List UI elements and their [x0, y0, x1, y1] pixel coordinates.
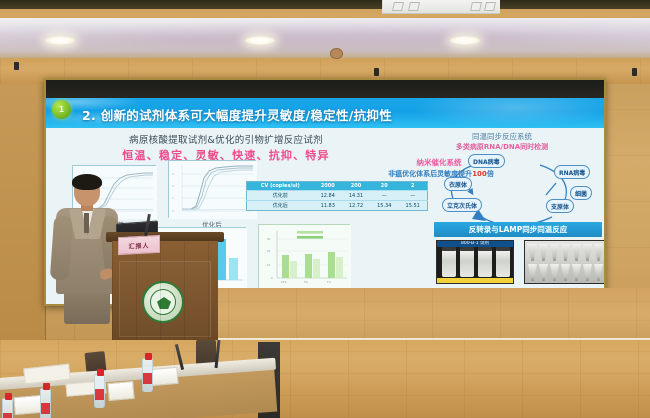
presentation-photo-scene: 1 2. 创新的试剂体系可大幅度提升灵敏度/稳定性/抗抑性 病原核酸提取试剂&优… — [0, 0, 650, 418]
photo-yellow-bar — [437, 278, 513, 283]
table-corner-label: CV (copies/ul) — [247, 182, 314, 191]
svg-text:40: 40 — [267, 237, 271, 241]
stage-upper-riser — [160, 288, 650, 340]
flow-banner: 反转录与LAMP同步同温反应 — [434, 222, 602, 237]
downlight — [45, 36, 75, 45]
water-bottle — [2, 398, 13, 418]
table-row: 优化后 11.83 12.72 15.34 15.51 — [247, 201, 428, 211]
row0-v0: 12.84 — [314, 191, 342, 201]
row0-v2: — — [370, 191, 398, 201]
ceiling-speaker-icon — [330, 48, 343, 59]
flow-node-rna-virus: RNA病毒 — [554, 165, 590, 179]
slide-number-badge: 1 — [52, 100, 71, 119]
table-col-3: 2 — [398, 182, 427, 191]
anti-inhibition-chart-svg: 4020100 10%5%1% — [259, 225, 351, 290]
flow-node-chlamydia: 衣原体 — [444, 177, 472, 191]
podium-namecard: 汇报人 — [118, 235, 160, 255]
svg-text:2: 2 — [172, 184, 174, 188]
row0-v1: 14.31 — [342, 191, 370, 201]
cv-comparison-table: CV (copies/ul) 2000 200 20 2 优化前 12.84 1… — [246, 181, 428, 211]
row1-v2: 15.34 — [370, 201, 398, 211]
svg-text:5%: 5% — [304, 280, 309, 284]
name-tent-card — [149, 367, 178, 386]
svg-text:1%: 1% — [327, 280, 332, 284]
downlight — [245, 36, 275, 45]
row1-v3: 15.51 — [398, 201, 427, 211]
flow-heading: 同温同步反应系统 — [402, 131, 602, 142]
svg-text:0: 0 — [172, 209, 174, 213]
ceiling-light-cove — [0, 18, 650, 60]
curve-chart-svg-after: 3210 — [169, 161, 257, 219]
wall-left-column — [0, 84, 46, 340]
amplification-chart-after: 3210 — [168, 160, 256, 218]
table-col-0: 2000 — [314, 182, 342, 191]
flow-node-bacteria: 细菌 — [570, 186, 592, 200]
name-tent-card — [107, 381, 134, 401]
anti-inhibition-bar-chart: 4020100 10%5%1% — [258, 224, 350, 289]
institution-emblem-icon — [142, 281, 184, 323]
table-row: 优化前 12.84 14.31 — — — [247, 191, 428, 201]
table-col-2: 20 — [370, 182, 398, 191]
pcr-tubes-photo — [524, 240, 604, 284]
slide-title-bar: 2. 创新的试剂体系可大幅度提升灵敏度/稳定性/抗抑性 — [46, 98, 604, 128]
svg-text:3: 3 — [172, 172, 174, 176]
svg-text:20: 20 — [267, 249, 271, 253]
lyophilized-vials-photo: 800-B-1 试剂 — [436, 240, 514, 284]
flow-subheading: 多类病原RNA/DNA同时检测 — [402, 142, 602, 152]
air-conditioner-vent — [382, 0, 500, 14]
table-col-1: 200 — [342, 182, 370, 191]
wall-sensor-icon — [14, 62, 19, 70]
svg-text:1: 1 — [172, 196, 174, 200]
svg-text:10%: 10% — [281, 280, 287, 284]
podium-body — [112, 241, 218, 340]
slide-subtitle: 病原核酸提取试剂&优化的引物扩增反应试剂 — [46, 132, 406, 146]
row1-v1: 12.72 — [342, 201, 370, 211]
table-header-row: CV (copies/ul) 2000 200 20 2 — [247, 182, 428, 191]
ceiling-shadow-strip — [0, 0, 650, 9]
screen-top-border — [46, 80, 604, 98]
water-bottle — [40, 388, 51, 418]
row0-label: 优化前 — [247, 191, 314, 201]
flow-node-rickettsia: 立克次氏体 — [442, 198, 482, 212]
wall-sensor-icon — [374, 68, 379, 76]
svg-text:10: 10 — [267, 263, 271, 267]
name-tent-card — [13, 395, 42, 415]
slide-title: 2. 创新的试剂体系可大幅度提升灵敏度/稳定性/抗抑性 — [46, 98, 604, 124]
wall-sensor-icon — [632, 68, 637, 76]
downlight — [450, 36, 480, 45]
water-bottle — [142, 358, 153, 392]
row1-v0: 11.83 — [314, 201, 342, 211]
flow-node-mycoplasma: 支原体 — [546, 199, 574, 213]
row0-v3: — — [398, 191, 427, 201]
flow-node-dna-virus: DNA病毒 — [468, 154, 505, 168]
water-bottle — [94, 374, 105, 408]
row1-label: 优化后 — [247, 201, 314, 211]
